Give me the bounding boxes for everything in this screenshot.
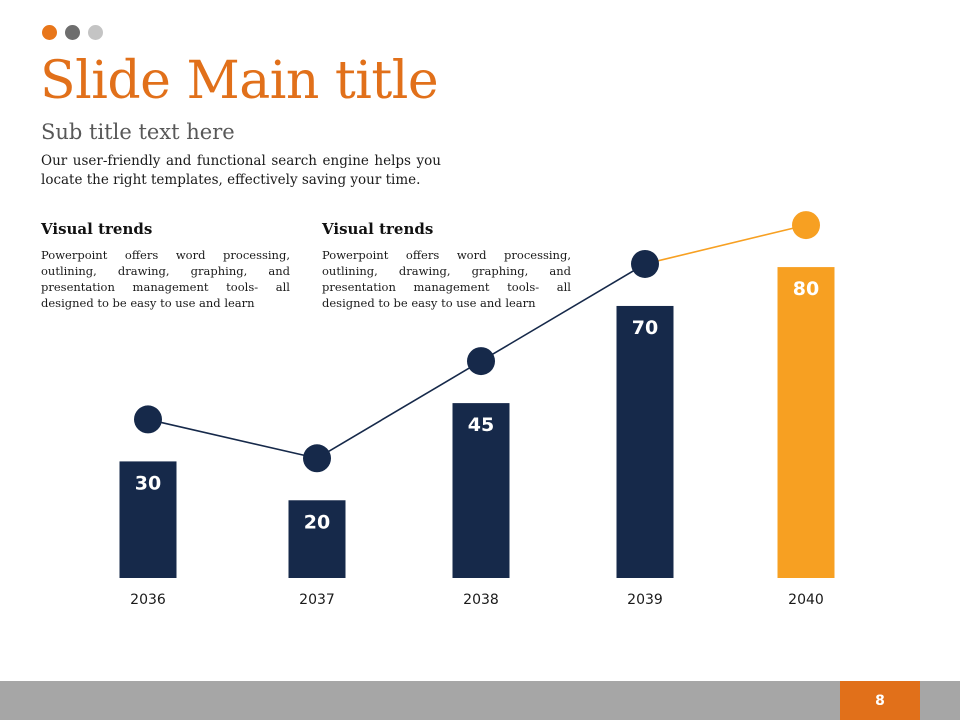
chart-bars <box>120 267 835 578</box>
chart-bar <box>778 267 835 578</box>
slide-canvas: Slide Main title Sub title text here Our… <box>0 0 960 720</box>
chart-bar <box>453 403 510 578</box>
category-label: 2040 <box>788 592 824 608</box>
chart-bar <box>289 500 346 578</box>
trend-line-segment <box>148 419 317 458</box>
feature-title-1: Visual trends <box>41 220 290 238</box>
chart-line-marker <box>134 405 162 433</box>
category-label: 2038 <box>463 592 499 608</box>
chart-bar <box>120 461 177 578</box>
chart-line-marker <box>303 444 331 472</box>
bar-value-label: 30 <box>135 472 161 494</box>
feature-body-1: Powerpoint offers word processing, outli… <box>41 247 290 311</box>
feature-body-2: Powerpoint offers word processing, outli… <box>322 247 571 311</box>
page-number-badge: 8 <box>840 681 920 720</box>
chart-line-marker <box>467 347 495 375</box>
feature-columns: Visual trends Powerpoint offers word pro… <box>41 220 571 311</box>
dot-orange-icon <box>42 25 57 40</box>
bar-value-label: 20 <box>304 511 330 533</box>
bar-value-label: 45 <box>468 414 494 436</box>
feature-column-1: Visual trends Powerpoint offers word pro… <box>41 220 290 311</box>
trend-line-segment <box>645 225 806 264</box>
chart-line-marker <box>792 211 820 239</box>
category-label: 2037 <box>299 592 335 608</box>
chart-category-labels: 20362037203820392040 <box>130 592 824 608</box>
page-subtitle: Sub title text here <box>41 119 235 145</box>
chart-line-marker <box>631 250 659 278</box>
chart-bar <box>617 306 674 578</box>
dot-dark-gray-icon <box>65 25 80 40</box>
category-label: 2036 <box>130 592 166 608</box>
trend-line-segment <box>317 361 481 458</box>
footer-bar <box>0 681 960 720</box>
intro-paragraph: Our user-friendly and functional search … <box>41 152 441 190</box>
decorative-dots <box>42 25 103 40</box>
bar-value-label: 70 <box>632 317 658 339</box>
feature-title-2: Visual trends <box>322 220 571 238</box>
page-title: Slide Main title <box>40 52 438 110</box>
bar-value-label: 80 <box>793 278 819 300</box>
feature-column-2: Visual trends Powerpoint offers word pro… <box>322 220 571 311</box>
dot-light-gray-icon <box>88 25 103 40</box>
category-label: 2039 <box>627 592 663 608</box>
chart-value-labels: 3020457080 <box>135 278 819 533</box>
